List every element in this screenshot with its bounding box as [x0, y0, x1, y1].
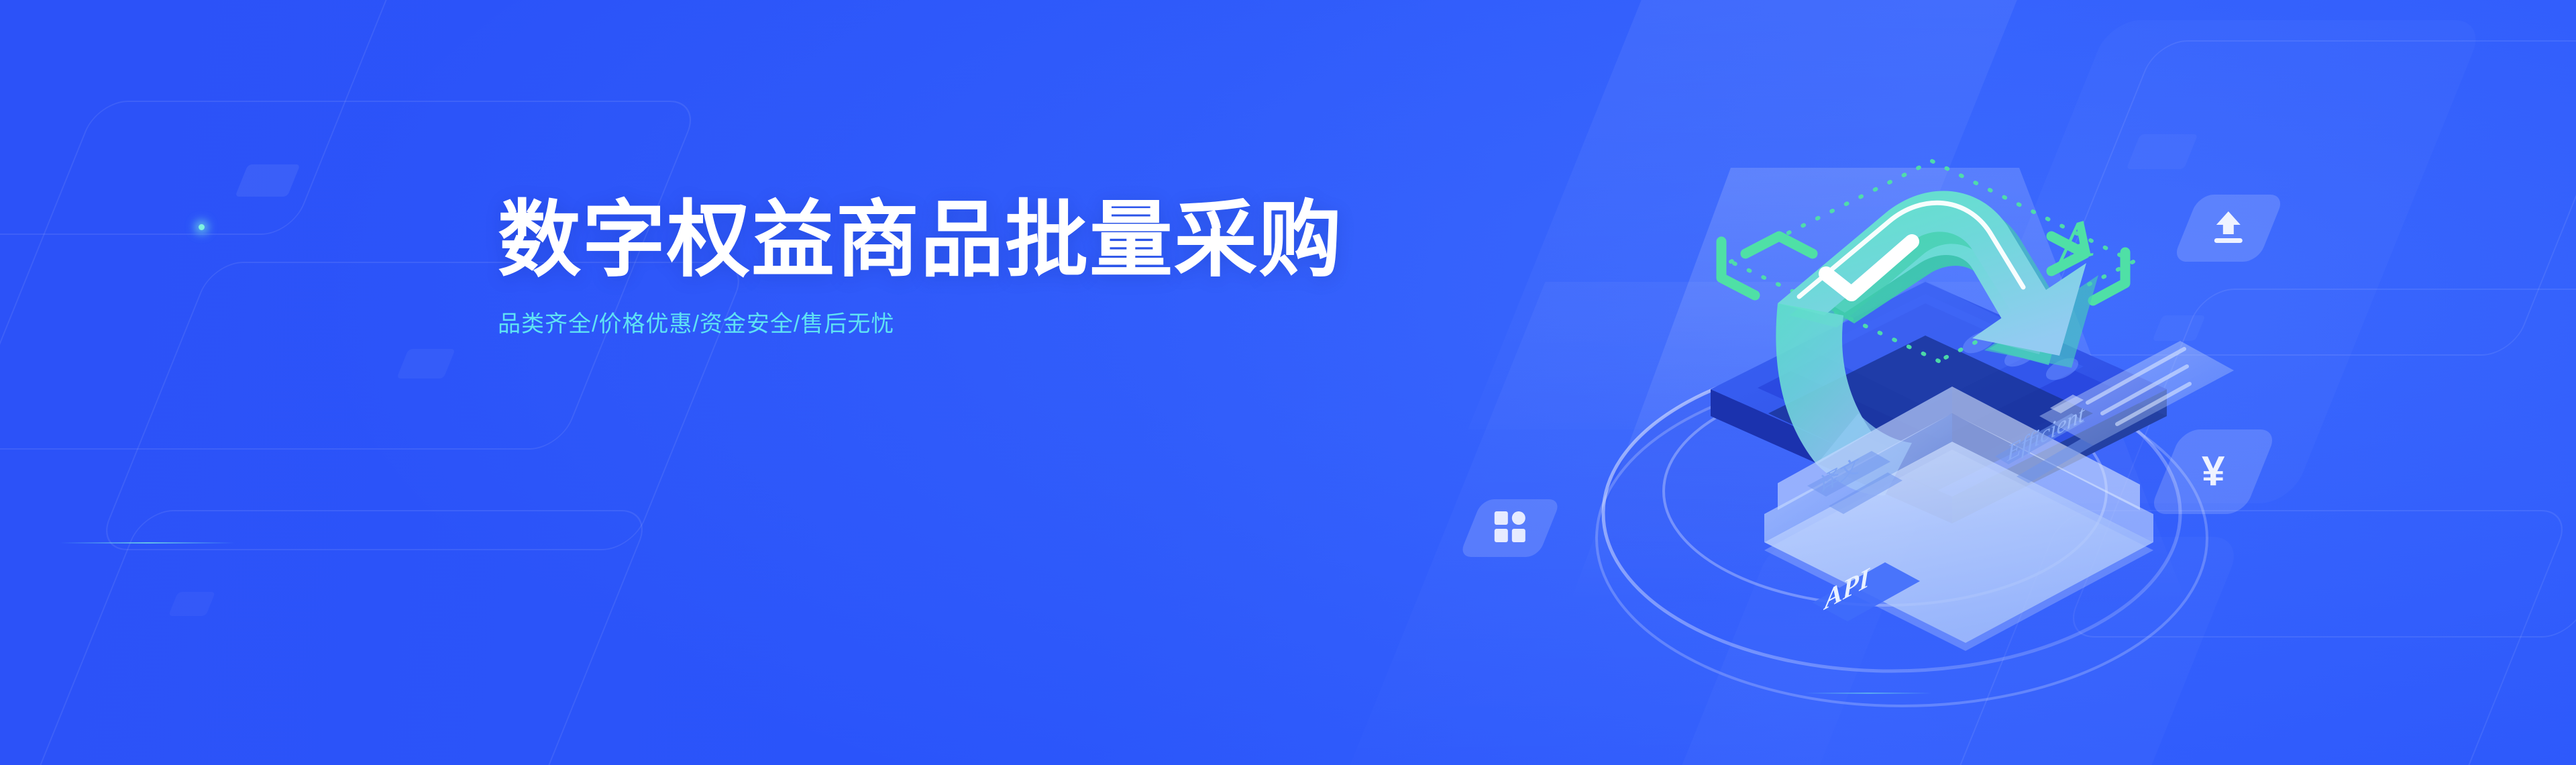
bg-glow-line-left	[60, 542, 235, 544]
grid-apps-glyph	[1493, 509, 1527, 548]
hero-banner: 数字权益商品批量采购 品类齐全/价格优惠/资金安全/售后无忧	[0, 0, 2576, 765]
hero-copy: 数字权益商品批量采购 品类齐全/价格优惠/资金安全/售后无忧	[498, 199, 1343, 336]
bg-parallelogram-1	[235, 164, 300, 197]
bg-shape-outline-3	[18, 510, 653, 765]
bg-parallelogram-3	[168, 592, 216, 616]
letter-a-badge: A	[2055, 205, 2096, 279]
page-subtitle: 品类齐全/价格优惠/资金安全/售后无忧	[498, 282, 1343, 336]
hero-illustration: A	[1509, 40, 2234, 725]
yen-glyph: ¥	[2202, 451, 2224, 493]
bg-glow-dot	[199, 224, 205, 230]
bg-parallelogram-2	[396, 349, 455, 378]
page-title: 数字权益商品批量采购	[498, 199, 1343, 282]
bg-shape-outline-4	[0, 0, 406, 235]
upload-glyph	[2209, 207, 2248, 250]
